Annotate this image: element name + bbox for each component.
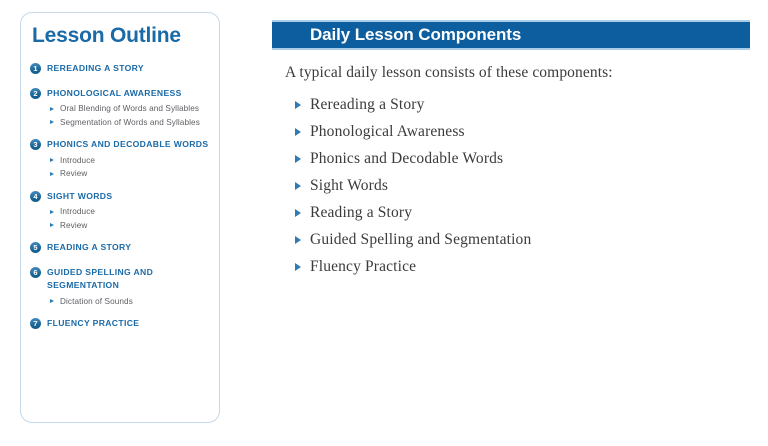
component-list-item[interactable]: Phonics and Decodable Words <box>272 145 750 172</box>
outline-subitem[interactable]: Oral Blending of Words and Syllables <box>30 103 213 115</box>
spacer <box>30 309 213 315</box>
outline-entry-label: Phonics and Decodable Words <box>47 138 213 152</box>
outline-entry-label: Reading a Story <box>47 241 213 255</box>
triangle-bullet-icon <box>50 120 54 124</box>
triangle-bullet-icon <box>50 210 54 214</box>
spacer <box>30 79 213 85</box>
outline-entry-header[interactable]: 1Rereading a Story <box>30 62 213 76</box>
outline-number-badge: 2 <box>30 88 41 99</box>
triangle-bullet-icon <box>50 107 54 111</box>
component-label: Reading a Story <box>310 204 412 221</box>
component-label: Guided Spelling and Segmentation <box>310 231 531 248</box>
triangle-bullet-icon <box>295 236 301 244</box>
spacer <box>30 334 213 340</box>
component-label: Phonics and Decodable Words <box>310 150 503 167</box>
outline-subitem[interactable]: Introduce <box>30 206 213 218</box>
outline-subitem[interactable]: Review <box>30 168 213 180</box>
outline-subitem[interactable]: Introduce <box>30 155 213 167</box>
outline-number-badge: 3 <box>30 139 41 150</box>
triangle-bullet-icon <box>295 101 301 109</box>
outline-entry-header[interactable]: 6Guided Spelling and Segmentation <box>30 266 213 293</box>
outline-subitem[interactable]: Dictation of Sounds <box>30 296 213 308</box>
outline-number-badge: 5 <box>30 242 41 253</box>
lesson-outline-list: 1Rereading a Story2Phonological Awarenes… <box>30 62 213 342</box>
outline-subitem-label: Introduce <box>60 207 95 216</box>
outline-number-badge: 4 <box>30 191 41 202</box>
component-list-item[interactable]: Sight Words <box>272 172 750 199</box>
triangle-bullet-icon <box>295 209 301 217</box>
spacer <box>30 258 213 264</box>
outline-entry[interactable]: 1Rereading a Story <box>30 62 213 85</box>
lesson-outline-card: Lesson Outline 1Rereading a Story2Phonol… <box>20 12 220 423</box>
outline-number-badge: 7 <box>30 318 41 329</box>
outline-subitem-label: Review <box>60 221 87 230</box>
outline-entry-label: Guided Spelling and Segmentation <box>47 266 213 293</box>
outline-entry-header[interactable]: 2Phonological Awareness <box>30 87 213 101</box>
component-list-item[interactable]: Rereading a Story <box>272 91 750 118</box>
components-list: Rereading a StoryPhonological AwarenessP… <box>272 91 750 280</box>
component-label: Phonological Awareness <box>310 123 465 140</box>
spacer <box>30 182 213 188</box>
outline-entry[interactable]: 4Sight WordsIntroduceReview <box>30 190 213 240</box>
outline-number-badge: 6 <box>30 267 41 278</box>
triangle-bullet-icon <box>50 299 54 303</box>
component-list-item[interactable]: Guided Spelling and Segmentation <box>272 226 750 253</box>
daily-lesson-components-panel: Daily Lesson Components A typical daily … <box>272 20 750 280</box>
triangle-bullet-icon <box>50 223 54 227</box>
outline-entry[interactable]: 7Fluency Practice <box>30 317 213 340</box>
component-label: Fluency Practice <box>310 258 416 275</box>
outline-subitem[interactable]: Review <box>30 220 213 232</box>
outline-number-badge: 1 <box>30 63 41 74</box>
outline-entry[interactable]: 2Phonological AwarenessOral Blending of … <box>30 87 213 137</box>
outline-entry-header[interactable]: 7Fluency Practice <box>30 317 213 331</box>
outline-sublist: IntroduceReview <box>30 155 213 180</box>
outline-entry-label: Fluency Practice <box>47 317 213 331</box>
outline-entry[interactable]: 6Guided Spelling and SegmentationDictati… <box>30 266 213 316</box>
triangle-bullet-icon <box>295 182 301 190</box>
component-label: Sight Words <box>310 177 388 194</box>
outline-sublist: Dictation of Sounds <box>30 296 213 308</box>
spacer <box>30 233 213 239</box>
outline-subitem-label: Oral Blending of Words and Syllables <box>60 104 199 113</box>
component-list-item[interactable]: Reading a Story <box>272 199 750 226</box>
component-list-item[interactable]: Phonological Awareness <box>272 118 750 145</box>
outline-subitem[interactable]: Segmentation of Words and Syllables <box>30 117 213 129</box>
outline-entry-label: Phonological Awareness <box>47 87 213 101</box>
intro-text: A typical daily lesson consists of these… <box>285 64 750 82</box>
outline-sublist: IntroduceReview <box>30 206 213 231</box>
triangle-bullet-icon <box>295 263 301 271</box>
outline-entry-header[interactable]: 3Phonics and Decodable Words <box>30 138 213 152</box>
component-list-item[interactable]: Fluency Practice <box>272 253 750 280</box>
outline-entry-header[interactable]: 5Reading a Story <box>30 241 213 255</box>
outline-entry[interactable]: 3Phonics and Decodable WordsIntroduceRev… <box>30 138 213 188</box>
outline-entry[interactable]: 5Reading a Story <box>30 241 213 264</box>
outline-entry-label: Rereading a Story <box>47 62 213 76</box>
component-label: Rereading a Story <box>310 96 424 113</box>
outline-subitem-label: Dictation of Sounds <box>60 297 133 306</box>
components-banner: Daily Lesson Components <box>272 20 750 50</box>
triangle-bullet-icon <box>50 172 54 176</box>
triangle-bullet-icon <box>50 158 54 162</box>
outline-entry-header[interactable]: 4Sight Words <box>30 190 213 204</box>
outline-subitem-label: Introduce <box>60 156 95 165</box>
outline-subitem-label: Review <box>60 169 87 178</box>
triangle-bullet-icon <box>295 128 301 136</box>
components-banner-title: Daily Lesson Components <box>310 25 521 45</box>
outline-sublist: Oral Blending of Words and SyllablesSegm… <box>30 103 213 128</box>
triangle-bullet-icon <box>295 155 301 163</box>
sidebar-title: Lesson Outline <box>32 24 181 48</box>
outline-subitem-label: Segmentation of Words and Syllables <box>60 118 200 127</box>
outline-entry-label: Sight Words <box>47 190 213 204</box>
spacer <box>30 130 213 136</box>
